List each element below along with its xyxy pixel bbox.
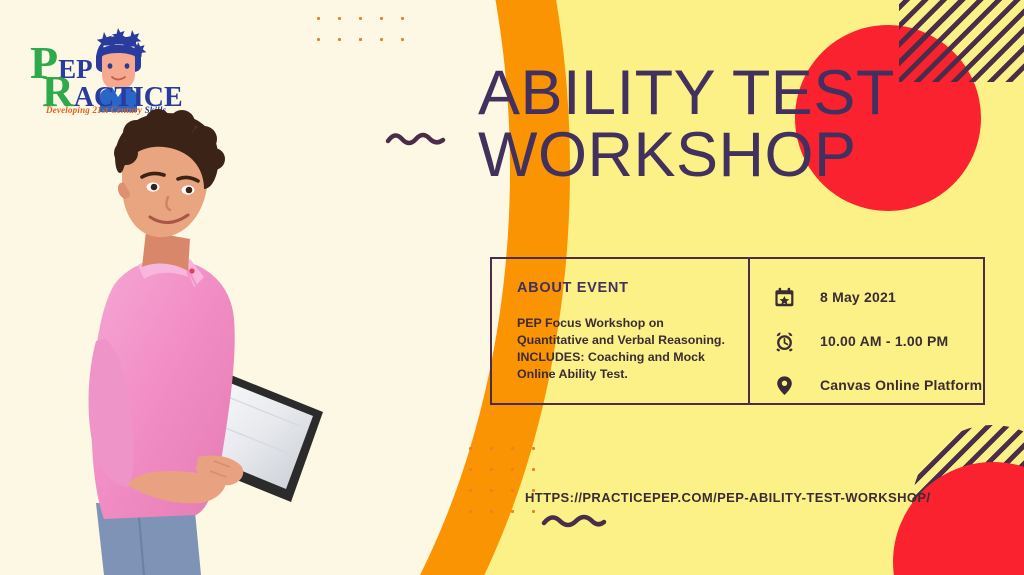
about-line-2: Quantitative and Verbal Reasoning. xyxy=(517,332,748,349)
event-time-text: 10.00 AM - 1.00 PM xyxy=(820,333,948,349)
event-time-row: 10.00 AM - 1.00 PM xyxy=(774,330,983,352)
student-photo xyxy=(18,105,348,575)
squiggle-icon-lower xyxy=(541,510,607,532)
dot-grid-top xyxy=(306,6,412,48)
calendar-icon xyxy=(774,286,798,308)
location-pin-icon xyxy=(774,374,798,396)
page-title: ABILITY TEST WORKSHOP xyxy=(478,63,998,186)
dot-grid-middle xyxy=(458,436,544,522)
logo-wordmark: PEP RACTICE Developing 21st Century Skil… xyxy=(18,14,208,118)
about-line-4: Online Ability Test. xyxy=(517,366,748,383)
about-line-1: PEP Focus Workshop on xyxy=(517,315,748,332)
event-location-row: Canvas Online Platform xyxy=(774,374,983,396)
squiggle-icon-upper xyxy=(385,128,447,150)
pep-practice-logo: PEP RACTICE Developing 21st Century Skil… xyxy=(18,14,208,118)
event-url[interactable]: HTTPS://PRACTICEPEP.COM/PEP-ABILITY-TEST… xyxy=(525,490,930,505)
event-poster: PEP RACTICE Developing 21st Century Skil… xyxy=(0,0,1024,575)
title-line-2: WORKSHOP xyxy=(478,125,998,187)
about-event-panel: ABOUT EVENT PEP Focus Workshop on Quanti… xyxy=(492,259,750,403)
event-date-row: 8 May 2021 xyxy=(774,286,983,308)
title-line-1: ABILITY TEST xyxy=(478,58,895,128)
about-event-heading: ABOUT EVENT xyxy=(517,280,748,296)
about-event-description: PEP Focus Workshop on Quantitative and V… xyxy=(517,315,748,383)
alarm-clock-icon xyxy=(774,330,798,352)
event-details-panel: 8 May 2021 10.00 AM - 1.00 PM xyxy=(750,259,983,403)
event-location-text: Canvas Online Platform xyxy=(820,377,982,393)
event-date-text: 8 May 2021 xyxy=(820,289,896,305)
event-info-box: ABOUT EVENT PEP Focus Workshop on Quanti… xyxy=(490,257,985,405)
about-line-3: INCLUDES: Coaching and Mock xyxy=(517,349,748,366)
